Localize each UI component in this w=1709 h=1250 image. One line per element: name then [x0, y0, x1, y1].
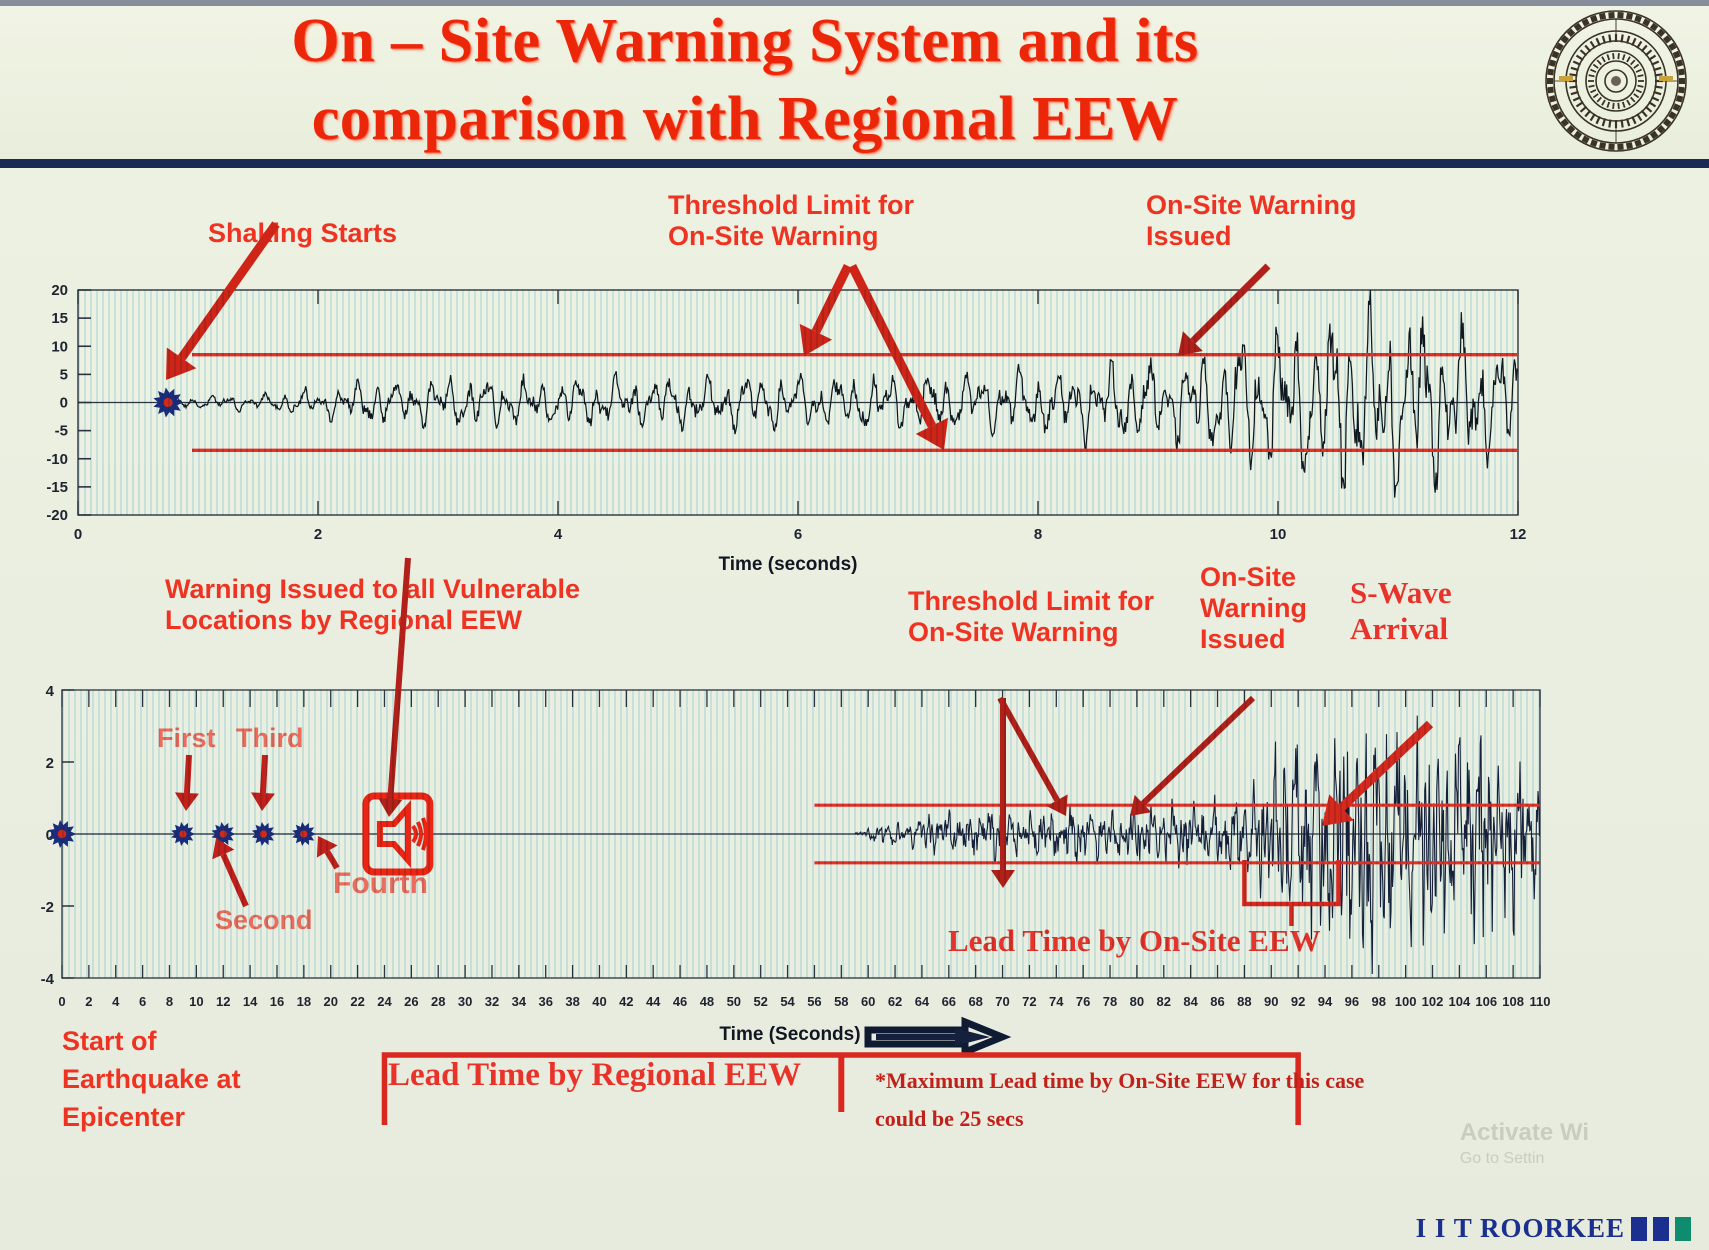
axis-tick-label: 10 [1270, 526, 1287, 543]
axis-tick-label: 4 [46, 683, 55, 700]
axis-tick-label: 10 [51, 338, 68, 355]
axis-tick-label: 20 [51, 282, 68, 299]
axis-tick-label: 0 [74, 526, 82, 543]
axis-tick-label: -15 [46, 479, 68, 496]
axis-tick-label: -10 [46, 451, 68, 468]
footer-institute: I I T ROORKEE [1416, 1213, 1691, 1244]
annotation-onsite-warning-issued-bottom: On-Site Warning Issued [1200, 562, 1350, 655]
annotation-footnote: *Maximum Lead time by On-Site EEW for th… [875, 1062, 1575, 1138]
iit-roorkee-seal-icon [1541, 6, 1691, 156]
annotation-start-of-earthquake: Start of Earthquake at Epicenter [62, 1022, 302, 1136]
annotation-s-wave-arrival: S-Wave Arrival [1350, 575, 1540, 647]
lead-time-onsite-bracket [1244, 860, 1338, 926]
annotation-threshold-bottom: Threshold Limit for On-Site Warning [908, 586, 1178, 648]
axis-tick-label: 6 [794, 526, 802, 543]
axis-tick-label: 15 [51, 310, 68, 327]
axis-tick-label: 5 [60, 366, 68, 383]
title-line-1: On – Site Warning System and its [120, 2, 1370, 80]
axis-tick-label: -5 [55, 423, 68, 440]
slide-header: On – Site Warning System and its compari… [0, 0, 1709, 168]
axis-tick-label: 2 [314, 526, 322, 543]
annotation-threshold-top: Threshold Limit for On-Site Warning [668, 190, 914, 252]
footer-square-3 [1675, 1217, 1691, 1241]
slide-canvas: On – Site Warning System and its compari… [0, 0, 1709, 1250]
footer-square-1 [1631, 1217, 1647, 1241]
axis-tick-label: 4 [554, 526, 563, 543]
axis-tick-label: 12 [1510, 526, 1527, 543]
x-axis-label: Time (seconds) [718, 554, 857, 575]
annotation-lead-time-onsite: Lead Time by On-Site EEW [948, 925, 1321, 956]
footer-institute-label: I I T ROORKEE [1416, 1213, 1625, 1244]
axis-tick-label: 2 [46, 755, 54, 772]
title-line-2: comparison with Regional EEW [120, 80, 1370, 158]
chart-top-accelerogram: 20151050-5-10-15-20024681012Time (second… [0, 272, 1560, 542]
annotation-lead-time-regional: Lead Time by Regional EEW [388, 1060, 801, 1091]
footer-square-2 [1653, 1217, 1669, 1241]
page-title: On – Site Warning System and its compari… [120, 2, 1370, 158]
annotation-regional-warning: Warning Issued to all Vulnerable Locatio… [165, 574, 785, 636]
axis-tick-label: -20 [46, 507, 68, 524]
axis-tick-label: 0 [60, 395, 68, 412]
axis-tick-label: 8 [1034, 526, 1042, 543]
annotation-shaking-starts: Shaking Starts [208, 218, 397, 249]
annotation-onsite-warning-issued-top: On-Site Warning Issued [1146, 190, 1357, 252]
